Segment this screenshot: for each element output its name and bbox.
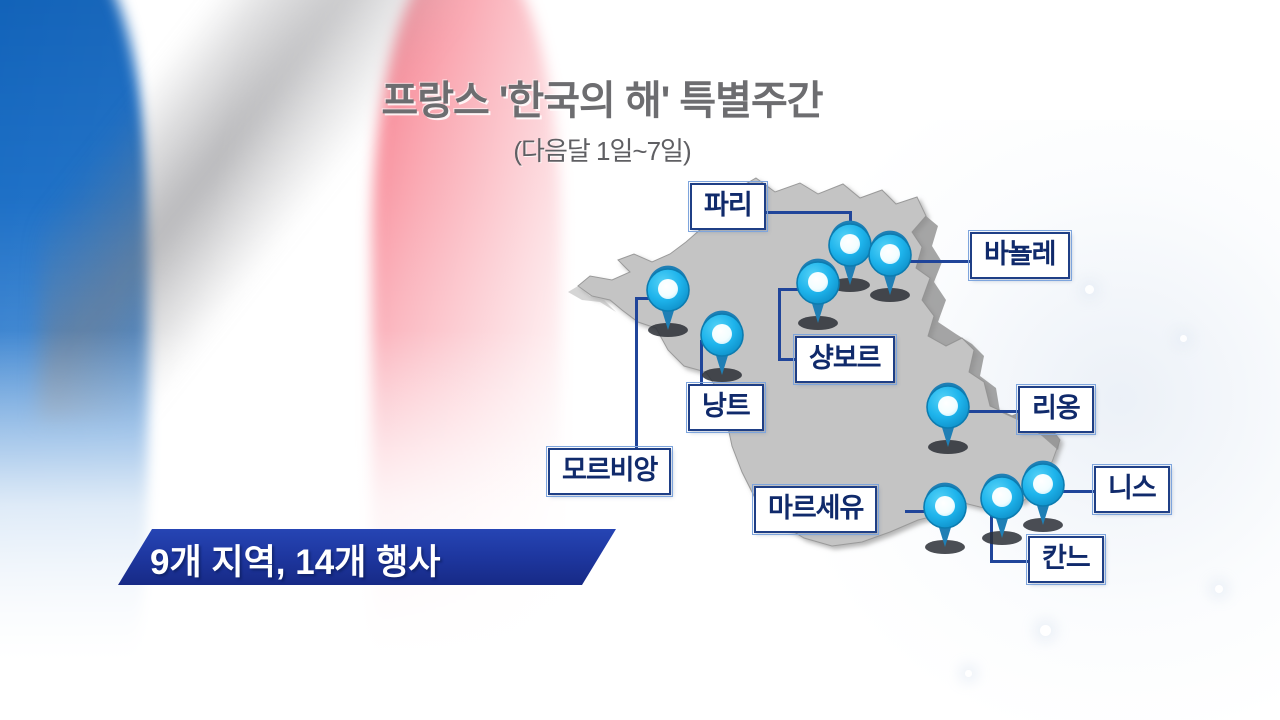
map-label-morbihan[interactable]: 모르비앙 [548, 448, 671, 495]
leader-nice [1055, 490, 1097, 493]
leader-chambord-v [778, 288, 781, 360]
bokeh-dot [1215, 585, 1223, 593]
france-map: 파리 바뇰레 샹보르 모르비앙 낭트 리옹 마르세유 칸느 니스 [560, 150, 1120, 650]
map-label-nice[interactable]: 니스 [1094, 466, 1170, 513]
map-label-cannes[interactable]: 칸느 [1028, 536, 1104, 583]
flag-fade-overlay-bottom [0, 330, 620, 720]
leader-lyon [960, 410, 1022, 413]
bokeh-dot [1180, 335, 1187, 342]
leader-chambord-h1 [778, 288, 824, 291]
leader-nantes-h1 [700, 340, 725, 343]
leader-morbihan-h1 [635, 297, 668, 300]
leader-cannes-v [990, 502, 993, 562]
map-label-marseille[interactable]: 마르세유 [754, 486, 877, 533]
leader-cannes-h2 [990, 560, 1032, 563]
leader-cannes-h1 [990, 502, 1006, 505]
broadcast-graphic-stage: 프랑스 '한국의 해' 특별주간 (다음달 1일~7일) [0, 0, 1280, 720]
leader-paris-v [849, 211, 852, 249]
bokeh-dot [965, 670, 972, 677]
leader-marseille [905, 510, 951, 513]
french-flag-background [0, 0, 620, 720]
map-label-lyon[interactable]: 리옹 [1018, 386, 1094, 433]
ktv-logo [1084, 38, 1252, 120]
leader-bagnolet [903, 260, 973, 263]
leader-morbihan-v [635, 297, 638, 472]
summary-banner-text: 9개 지역, 14개 행사 [150, 535, 610, 583]
map-label-paris[interactable]: 파리 [690, 183, 766, 230]
map-label-nantes[interactable]: 낭트 [688, 384, 764, 431]
map-label-chambord[interactable]: 샹보르 [795, 336, 895, 383]
map-label-bagnolet[interactable]: 바뇰레 [970, 232, 1070, 279]
